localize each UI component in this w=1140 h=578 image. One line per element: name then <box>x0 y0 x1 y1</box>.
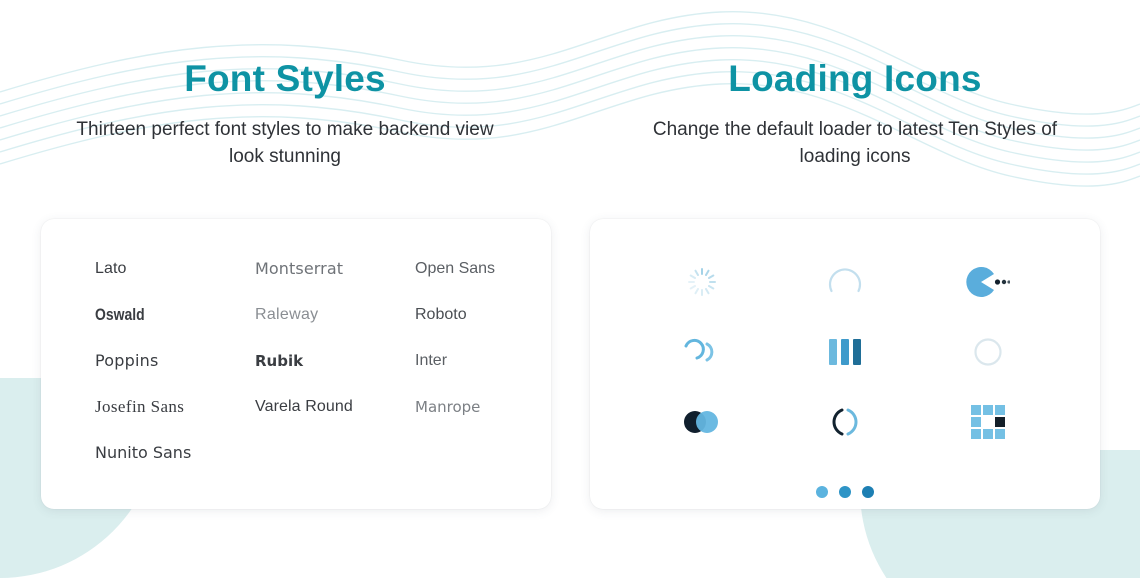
three-bars-icon[interactable] <box>814 321 876 383</box>
three-dots-icon[interactable] <box>814 461 876 523</box>
font-item-oswald[interactable]: Oswald <box>95 303 226 327</box>
font-item-montserrat[interactable]: Montserrat <box>255 257 415 281</box>
font-item-josefin-sans[interactable]: Josefin Sans <box>95 395 255 419</box>
page-root: Font Styles Thirteen perfect font styles… <box>0 0 1140 578</box>
loading-icons-title: Loading Icons <box>570 58 1140 101</box>
loading-icons-card <box>590 219 1100 509</box>
font-item-manrope[interactable]: Manrope <box>415 395 575 419</box>
font-styles-subtitle: Thirteen perfect font styles to make bac… <box>0 117 570 171</box>
loading-icons-subtitle: Change the default loader to latest Ten … <box>570 117 1140 171</box>
font-item-rubik[interactable]: Rubik <box>255 349 415 373</box>
grid-squares-icon[interactable] <box>957 391 1019 453</box>
font-item-lato[interactable]: Lato <box>95 257 255 281</box>
font-item-nunito-sans[interactable]: Nunito Sans <box>95 441 255 465</box>
arc-ring-icon[interactable] <box>814 251 876 313</box>
font-item-varela-round[interactable]: Varela Round <box>255 395 415 419</box>
dual-crescent-icon[interactable] <box>671 321 733 383</box>
font-item-roboto[interactable]: Roboto <box>415 303 575 327</box>
loader-icon-grid <box>590 219 1100 509</box>
two-circles-icon[interactable] <box>671 391 733 453</box>
font-item-raleway[interactable]: Raleway <box>255 303 415 327</box>
font-item-open-sans[interactable]: Open Sans <box>415 257 575 281</box>
spinner-dashes-icon[interactable] <box>671 251 733 313</box>
panel-font-styles: Font Styles Thirteen perfect font styles… <box>0 0 570 578</box>
panel-loading-icons: Loading Icons Change the default loader … <box>570 0 1140 578</box>
pacman-dots-icon[interactable] <box>957 251 1019 313</box>
font-item-inter[interactable]: Inter <box>415 349 575 373</box>
font-styles-card: Lato Montserrat Open Sans Oswald Raleway… <box>41 219 551 509</box>
font-styles-title: Font Styles <box>0 58 570 101</box>
font-name-grid: Lato Montserrat Open Sans Oswald Raleway… <box>41 257 551 465</box>
facing-arcs-icon[interactable] <box>814 391 876 453</box>
ring-outline-icon[interactable] <box>957 321 1019 383</box>
font-item-poppins[interactable]: Poppins <box>95 349 255 373</box>
